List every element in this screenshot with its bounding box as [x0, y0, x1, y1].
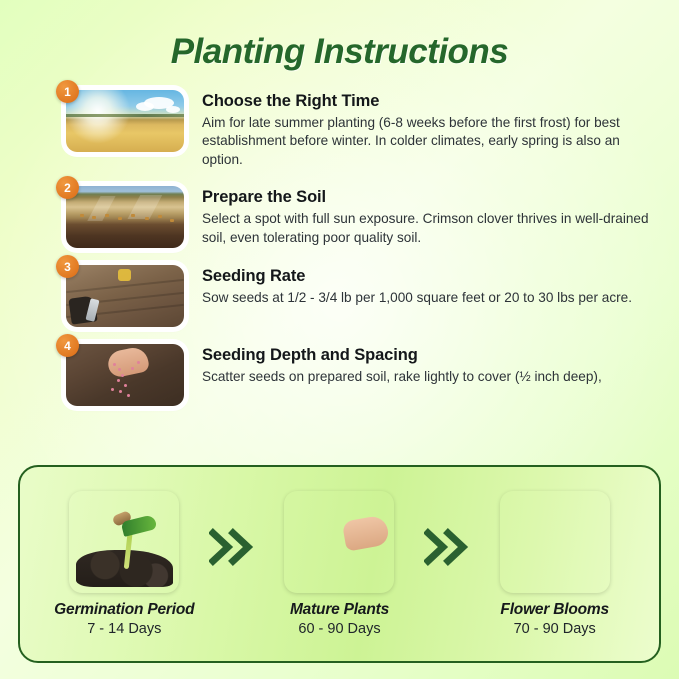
- step-item: 3 Seeding Rate Sow seeds at 1/2 - 3/4 lb…: [66, 265, 663, 327]
- step-text: Choose the Right Time Aim for late summe…: [202, 90, 663, 169]
- sprouting-seedling-photo: [69, 491, 179, 593]
- step-number-badge: 1: [56, 80, 79, 103]
- step-description: Sow seeds at 1/2 - 3/4 lb per 1,000 squa…: [202, 289, 663, 307]
- growth-timeline-card: Germination Period 7 - 14 Days Mature Pl…: [18, 465, 661, 663]
- step-title: Choose the Right Time: [202, 92, 663, 111]
- step-description: Select a spot with full sun exposure. Cr…: [202, 210, 663, 247]
- double-chevron-right-icon: [209, 528, 255, 566]
- infographic-page: Planting Instructions 1 Choose the Right…: [0, 0, 679, 679]
- crimson-clover-blooms-photo: [500, 491, 610, 593]
- step-description: Aim for late summer planting (6-8 weeks …: [202, 114, 663, 169]
- harvested-field-hay-bales-photo: [66, 186, 184, 248]
- timeline-stage-label: Germination Period: [44, 601, 204, 619]
- steps-list: 1 Choose the Right Time Aim for late sum…: [0, 90, 679, 406]
- step-thumbnail-wrap: 3: [66, 265, 184, 327]
- hand-scattering-seeds-photo: [66, 344, 184, 406]
- shovel-digging-soil-photo: [66, 265, 184, 327]
- step-text: Seeding Depth and Spacing Scatter seeds …: [202, 344, 663, 386]
- step-text: Seeding Rate Sow seeds at 1/2 - 3/4 lb p…: [202, 265, 663, 307]
- step-description: Scatter seeds on prepared soil, rake lig…: [202, 368, 663, 386]
- timeline-stage-days: 60 - 90 Days: [259, 621, 419, 637]
- step-item: 1 Choose the Right Time Aim for late sum…: [66, 90, 663, 169]
- step-thumbnail-wrap: 4: [66, 344, 184, 406]
- double-chevron-right-icon: [424, 528, 470, 566]
- step-item: 4: [66, 344, 663, 406]
- timeline-stage-mature: Mature Plants 60 - 90 Days: [259, 491, 419, 637]
- timeline-stage-germination: Germination Period 7 - 14 Days: [44, 491, 204, 637]
- step-title: Prepare the Soil: [202, 188, 663, 207]
- timeline-stage-label: Mature Plants: [259, 601, 419, 619]
- clover-leaves-hand-photo: [284, 491, 394, 593]
- step-title: Seeding Depth and Spacing: [202, 346, 663, 365]
- timeline-stage-days: 7 - 14 Days: [44, 621, 204, 637]
- page-title: Planting Instructions: [0, 0, 679, 72]
- wheat-field-sunrise-photo: [66, 90, 184, 152]
- step-item: 2 Prepare the Soil: [66, 186, 663, 248]
- timeline-stage-bloom: Flower Blooms 70 - 90 Days: [475, 491, 635, 637]
- timeline-stage-label: Flower Blooms: [475, 601, 635, 619]
- step-thumbnail-wrap: 2: [66, 186, 184, 248]
- step-title: Seeding Rate: [202, 267, 663, 286]
- timeline-stage-days: 70 - 90 Days: [475, 621, 635, 637]
- step-thumbnail-wrap: 1: [66, 90, 184, 152]
- step-text: Prepare the Soil Select a spot with full…: [202, 186, 663, 247]
